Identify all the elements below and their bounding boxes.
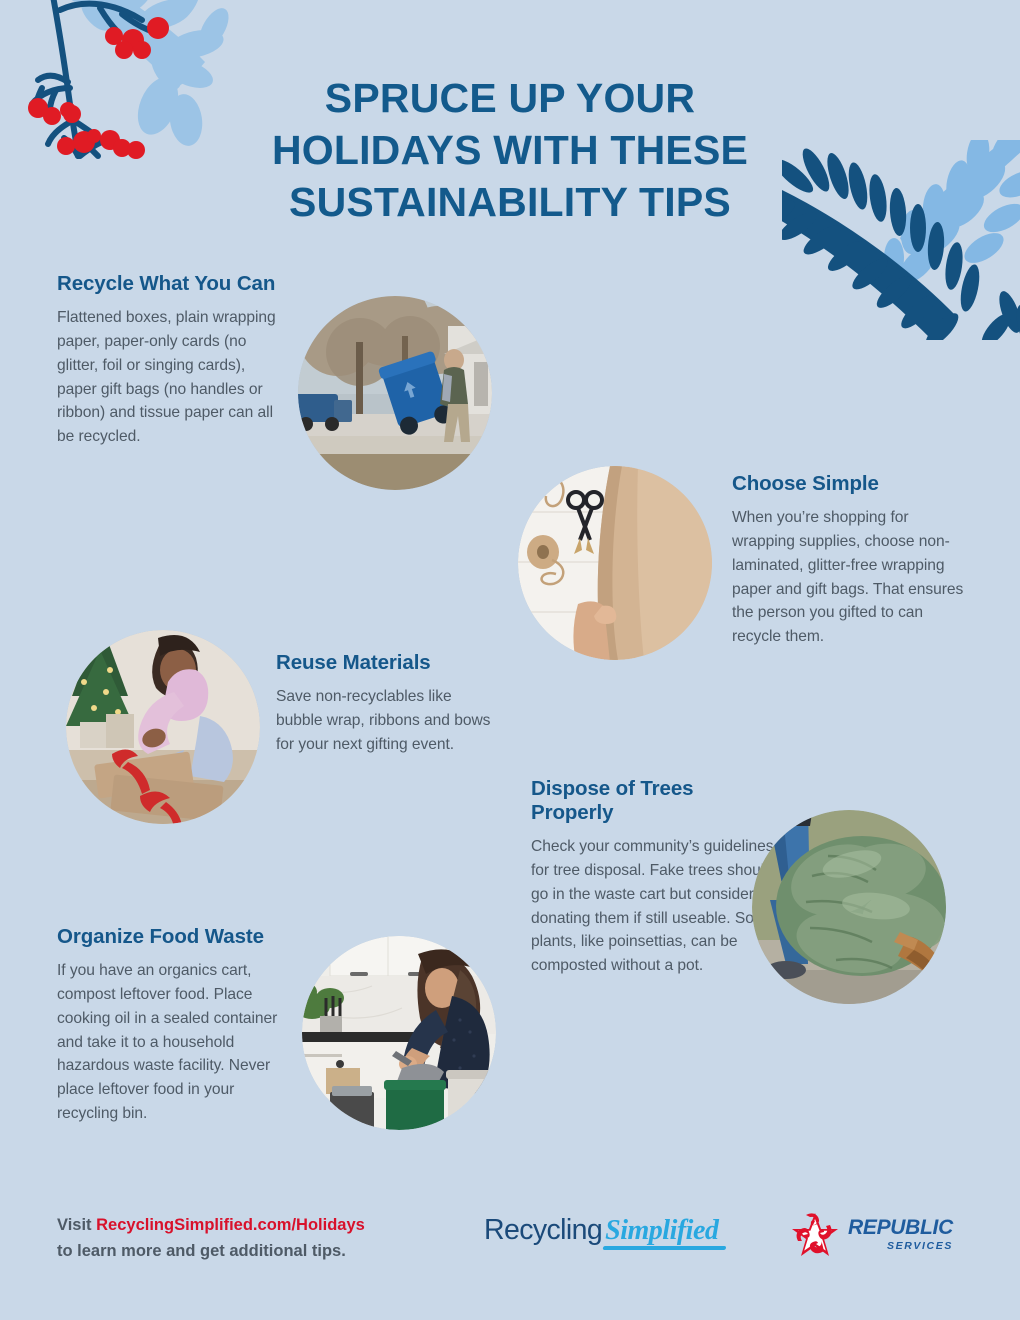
cta-prefix: Visit <box>57 1216 96 1234</box>
recycling-simplified-logo: Recycling Simplified <box>484 1214 718 1254</box>
tip-heading: Recycle What You Can <box>57 272 289 296</box>
logo-text-services: SERVICES <box>848 1241 953 1252</box>
tip-body: Save non-recyclables like bubble wrap, r… <box>276 685 502 757</box>
photo-christmas-tree-disposal <box>752 810 946 1004</box>
tip-body: If you have an organics cart, compost le… <box>57 959 297 1126</box>
title-line-2: HOLIDAYS WITH THESE <box>0 124 1020 176</box>
tip-dispose-of-trees-properly: Dispose of Trees Properly Check your com… <box>531 777 781 978</box>
tip-heading: Dispose of Trees Properly <box>531 777 781 825</box>
tip-heading: Organize Food Waste <box>57 925 297 949</box>
republic-star-icon <box>790 1211 840 1257</box>
logo-word-simplified: Simplified <box>605 1215 718 1247</box>
title-line-3: SUSTAINABILITY TIPS <box>0 176 1020 228</box>
logo-text-republic: REPUBLIC <box>848 1217 953 1238</box>
tip-body: Flattened boxes, plain wrapping paper, p… <box>57 306 289 449</box>
tip-body: Check your community’s guidelines for tr… <box>531 835 781 978</box>
logo-word-recycling: Recycling <box>484 1214 602 1247</box>
tip-recycle-what-you-can: Recycle What You Can Flattened boxes, pl… <box>57 272 289 449</box>
photo-wrapping-paper <box>518 466 712 660</box>
tip-reuse-materials: Reuse Materials Save non-recyclables lik… <box>276 651 502 757</box>
tip-heading: Choose Simple <box>732 472 964 496</box>
tip-choose-simple: Choose Simple When you’re shopping for w… <box>732 472 964 649</box>
footer-call-to-action: Visit RecyclingSimplified.com/Holidays t… <box>57 1212 365 1264</box>
tip-heading: Reuse Materials <box>276 651 502 675</box>
tip-organize-food-waste: Organize Food Waste If you have an organ… <box>57 925 297 1126</box>
photo-recycling-cart <box>298 296 492 490</box>
tip-body: When you’re shopping for wrapping suppli… <box>732 506 964 649</box>
photo-gift-wrapping <box>66 630 260 824</box>
infographic-page: SPRUCE UP YOUR HOLIDAYS WITH THESE SUSTA… <box>0 0 1020 1320</box>
photo-food-waste-compost <box>302 936 496 1130</box>
cta-url-link[interactable]: RecyclingSimplified.com/Holidays <box>96 1216 365 1234</box>
cta-suffix: to learn more and get additional tips. <box>57 1242 346 1260</box>
title-line-1: SPRUCE UP YOUR <box>0 72 1020 124</box>
page-title: SPRUCE UP YOUR HOLIDAYS WITH THESE SUSTA… <box>0 72 1020 228</box>
republic-services-logo: REPUBLIC SERVICES <box>790 1210 958 1258</box>
